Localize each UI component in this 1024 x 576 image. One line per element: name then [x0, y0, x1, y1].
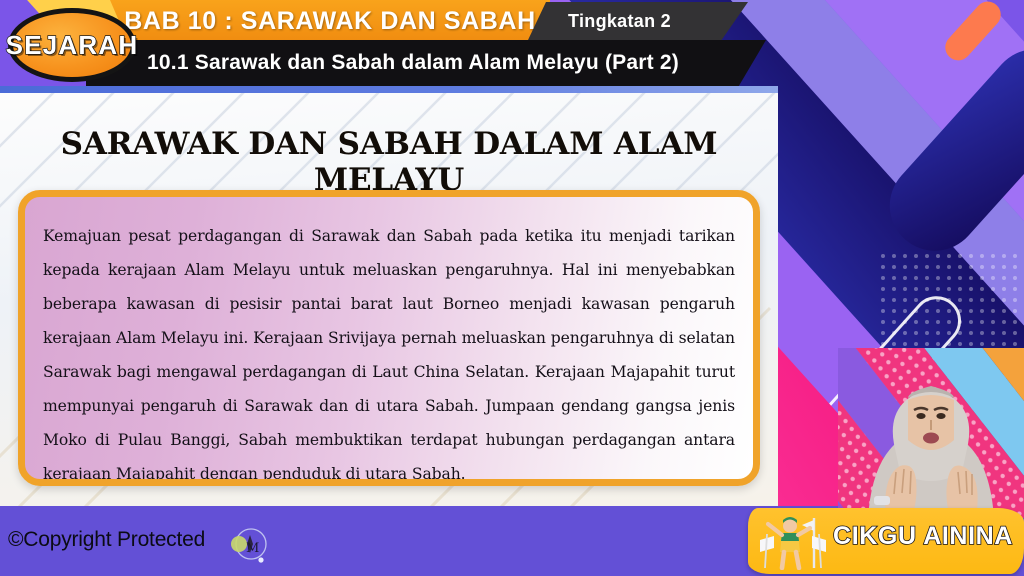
- brand-badge: CIKGU AININA: [748, 508, 1024, 574]
- brand-badge-label: CIKGU AININA: [830, 522, 1016, 551]
- svg-text:M: M: [246, 541, 259, 556]
- presenter-video: [838, 348, 1024, 518]
- form-badge: Tingkatan 2: [528, 2, 748, 40]
- header: BAB 10 : SARAWAK DAN SABAH Tingkatan 2 1…: [0, 0, 1024, 90]
- watermark-icon: M: [228, 524, 270, 566]
- subject-logo-label: SEJARAH: [6, 30, 139, 61]
- chapter-banner-label: BAB 10 : SARAWAK DAN SABAH: [124, 7, 535, 36]
- copyright-text: ©Copyright Protected: [8, 528, 205, 552]
- slide-title: SARAWAK DAN SABAH DALAM ALAM MELAYU: [0, 126, 778, 198]
- content-card: Kemajuan pesat perdagangan di Sarawak da…: [18, 190, 760, 486]
- content-card-paragraph: Kemajuan pesat perdagangan di Sarawak da…: [43, 219, 735, 486]
- mascot-warrior-icon: [756, 514, 836, 570]
- slide-title-text: SARAWAK DAN SABAH DALAM ALAM MELAYU: [61, 126, 718, 198]
- subtitle-banner-label: 10.1 Sarawak dan Sabah dalam Alam Melayu…: [147, 51, 705, 75]
- subject-logo-badge: SEJARAH: [8, 8, 136, 82]
- chapter-banner: BAB 10 : SARAWAK DAN SABAH: [110, 0, 550, 42]
- subtitle-banner: 10.1 Sarawak dan Sabah dalam Alam Melayu…: [86, 40, 766, 86]
- form-badge-label: Tingkatan 2: [568, 11, 671, 32]
